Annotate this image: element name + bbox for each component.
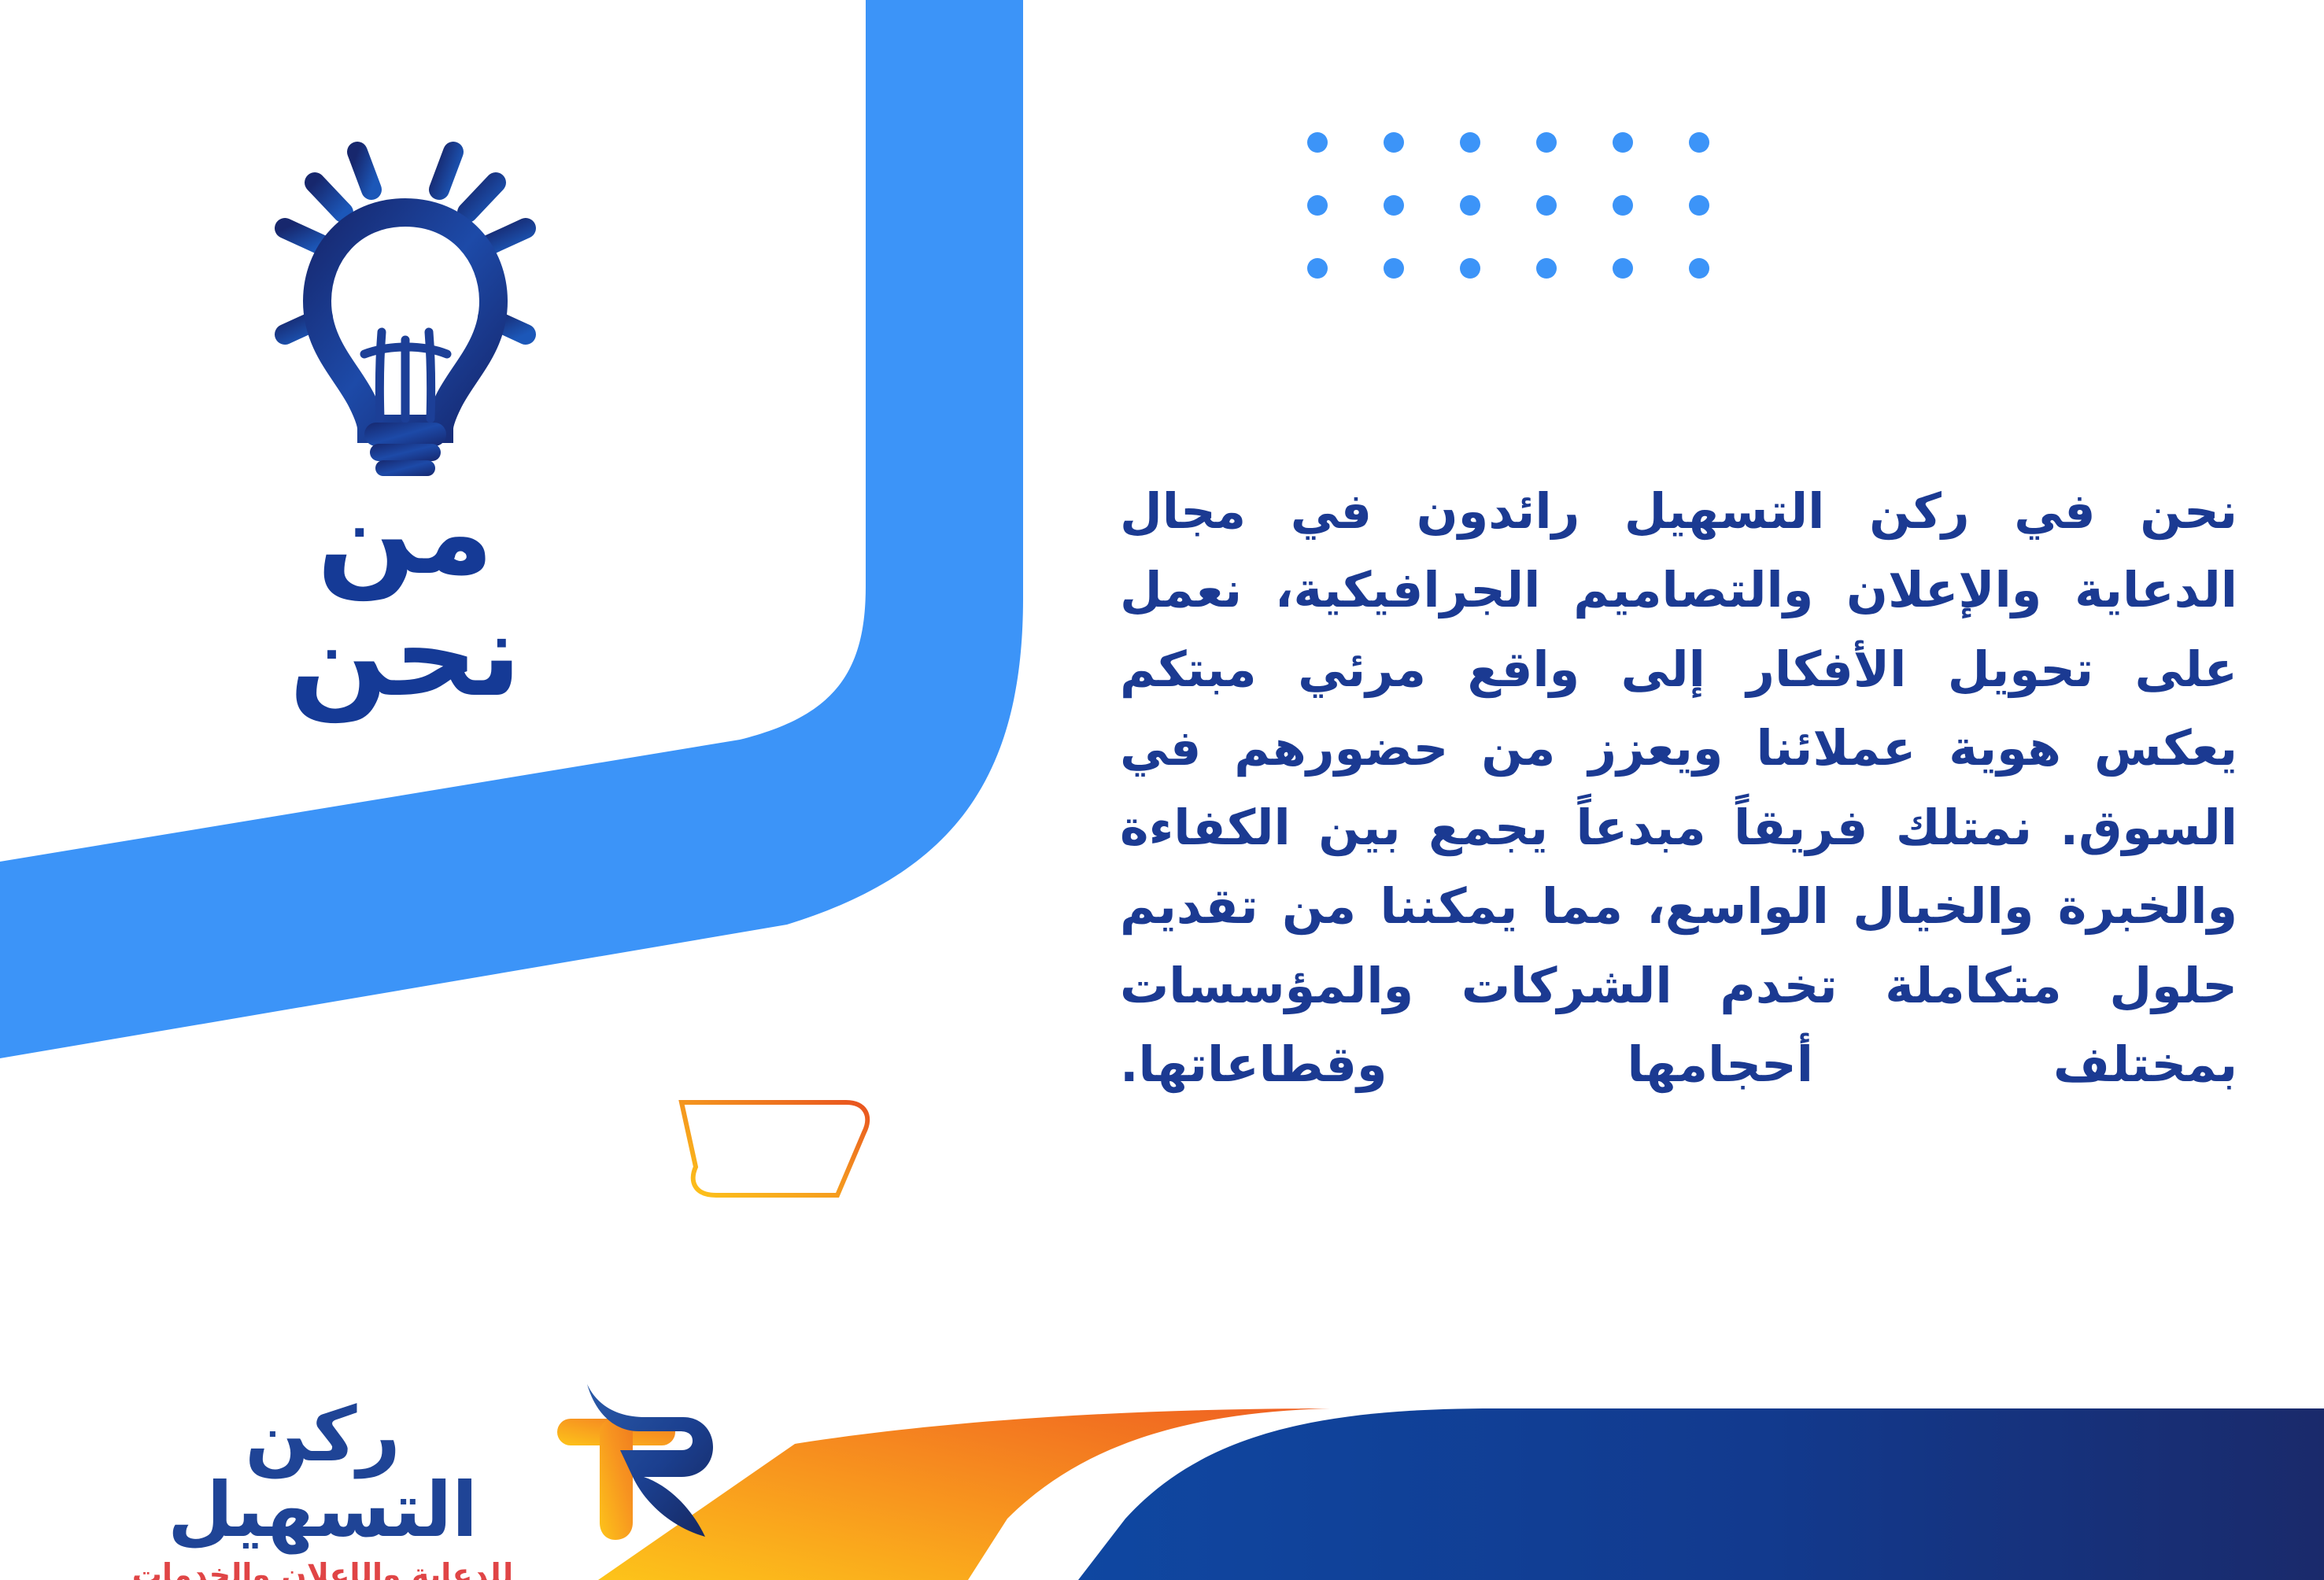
grid-dot [1460,132,1480,153]
page-title: من نحن [181,472,630,717]
grid-dot [1460,195,1480,216]
grid-dot [1689,132,1709,153]
grid-dot [1689,258,1709,279]
tr-monogram-icon [551,1373,811,1566]
about-paragraph: نحن في ركن التسهيل رائدون في مجال الدعاي… [1120,472,2237,1105]
grid-dot [1613,258,1633,279]
grid-dot [1536,258,1557,279]
grid-dot [1384,132,1404,153]
logo-wordmark: ركن التسهيل [94,1397,551,1548]
grid-dot [1307,258,1328,279]
grid-dot [1384,195,1404,216]
grid-dot [1536,132,1557,153]
logo-tagline: للدعاية والإعلان والخدمات العامة [94,1559,551,1580]
grid-dot [1307,132,1328,153]
brand-logo: ركن التسهيل للدعاية والإعلان والخدمات ال… [94,1397,551,1580]
parallelogram-outline-decoration [669,1090,893,1208]
grid-dot [1536,195,1557,216]
monogram-t [557,1419,675,1540]
grid-dot [1460,258,1480,279]
grid-dot [1307,195,1328,216]
grid-dot [1689,195,1709,216]
grid-dot [1384,258,1404,279]
grid-dot [1613,132,1633,153]
blue-bottom-ribbon [1078,1408,2324,1580]
bulb-filament [364,332,447,419]
about-us-slide: من نحن نحن في ركن التسهيل رائدون في مجال… [0,0,2324,1580]
lightbulb-icon [236,110,575,476]
grid-dot [1613,195,1633,216]
dot-grid-decoration [1251,132,1709,321]
